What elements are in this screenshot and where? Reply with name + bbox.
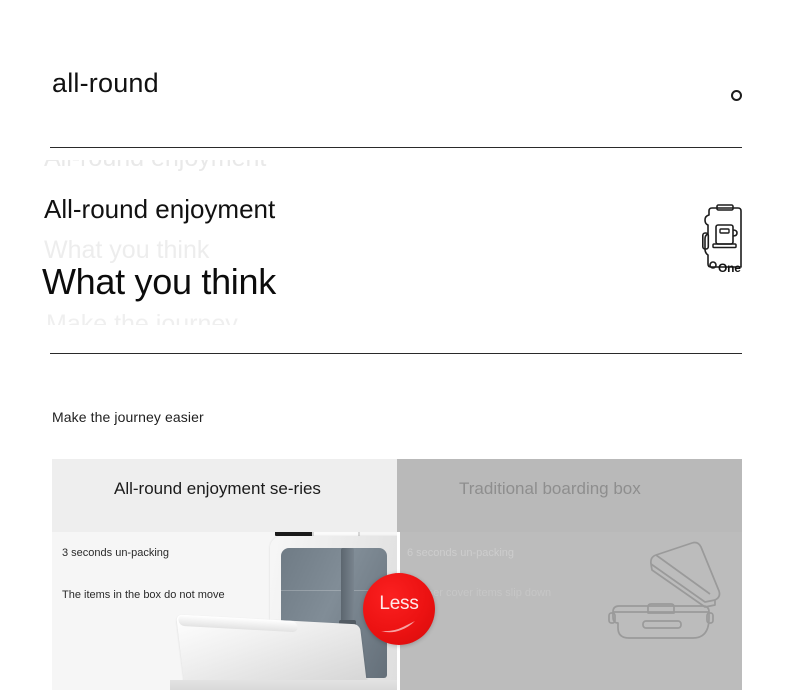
comparison-left-header: All-round enjoyment se-ries [52, 459, 397, 532]
hero-ghost-line-top: All-round enjoyment [44, 160, 266, 173]
brand-title: all-round [52, 68, 159, 99]
circle-outline-icon [731, 90, 742, 101]
comparison-left-strong: 3 seconds un-packing [62, 547, 212, 560]
comparison-left-note: The items in the box do not move [62, 588, 292, 602]
hero-headline-primary: All-round enjoyment [44, 194, 275, 225]
less-badge-label: Less [363, 593, 435, 615]
open-suitcase-outline-icon [593, 533, 742, 668]
comparison-right-header: Traditional boarding box [397, 459, 742, 532]
comparison-column-right: Traditional boarding box [397, 459, 742, 690]
hero-headline-block: All-round enjoyment All-round enjoyment … [0, 160, 790, 345]
comparison-right-body: 6 seconds un-packing Upper cover items s… [397, 532, 742, 690]
brand-header: all-round [0, 0, 790, 150]
comparison-right-heading: Traditional boarding box [459, 477, 714, 500]
hero-headline-secondary: What you think [42, 261, 276, 303]
less-badge: Less [363, 573, 435, 645]
tagline: Make the journey easier [52, 409, 204, 425]
divider-top [50, 147, 742, 148]
divider-bottom [50, 353, 742, 354]
swoosh-icon [379, 620, 419, 634]
comparison-column-left: All-round enjoyment se-ries 3 seconds un… [52, 459, 397, 690]
comparison-left-heading: All-round enjoyment se-ries [114, 477, 369, 500]
product-badge: One [702, 203, 748, 281]
comparison-left-body: 3 seconds un-packing The items in the bo… [52, 532, 397, 690]
comparison-right-note: Upper cover items slip down [413, 586, 643, 600]
hero-clip-mask [0, 325, 790, 345]
comparison-right-strong: 6 seconds un-packing [407, 547, 557, 560]
product-badge-label: One [718, 261, 741, 275]
